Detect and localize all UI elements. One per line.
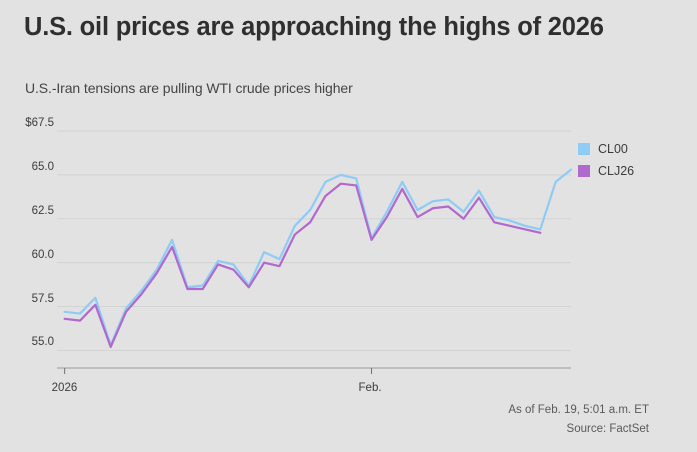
legend-swatch-cl00 [578, 143, 590, 155]
legend-item[interactable]: CL00 [578, 138, 634, 160]
y-tick-label: $67.5 [0, 117, 54, 129]
legend-item[interactable]: CLJ26 [578, 160, 634, 182]
y-tick-label: 65.0 [0, 161, 54, 173]
legend-label-clj26: CLJ26 [598, 164, 634, 178]
chart-footer: As of Feb. 19, 5:01 a.m. ET Source: Fact… [508, 401, 649, 439]
legend-swatch-clj26 [578, 165, 590, 177]
line-chart: $67.565.062.560.057.555.0 2026Feb. [0, 0, 697, 452]
y-tick-label: 62.5 [0, 205, 54, 217]
legend-label-cl00: CL00 [598, 142, 628, 156]
source-text: Source: FactSet [508, 420, 649, 439]
as-of-text: As of Feb. 19, 5:01 a.m. ET [508, 401, 649, 420]
chart-canvas [0, 0, 697, 452]
chart-legend: CL00 CLJ26 [578, 138, 634, 182]
y-tick-label: 60.0 [0, 249, 54, 261]
series-line-cl00 [65, 170, 571, 346]
x-tick-label: Feb. [359, 382, 382, 394]
chart-page: U.S. oil prices are approaching the high… [0, 0, 697, 452]
y-tick-label: 57.5 [0, 293, 54, 305]
x-tick-label: 2026 [52, 382, 78, 394]
y-tick-label: 55.0 [0, 336, 54, 348]
series-line-clj26 [65, 184, 541, 347]
